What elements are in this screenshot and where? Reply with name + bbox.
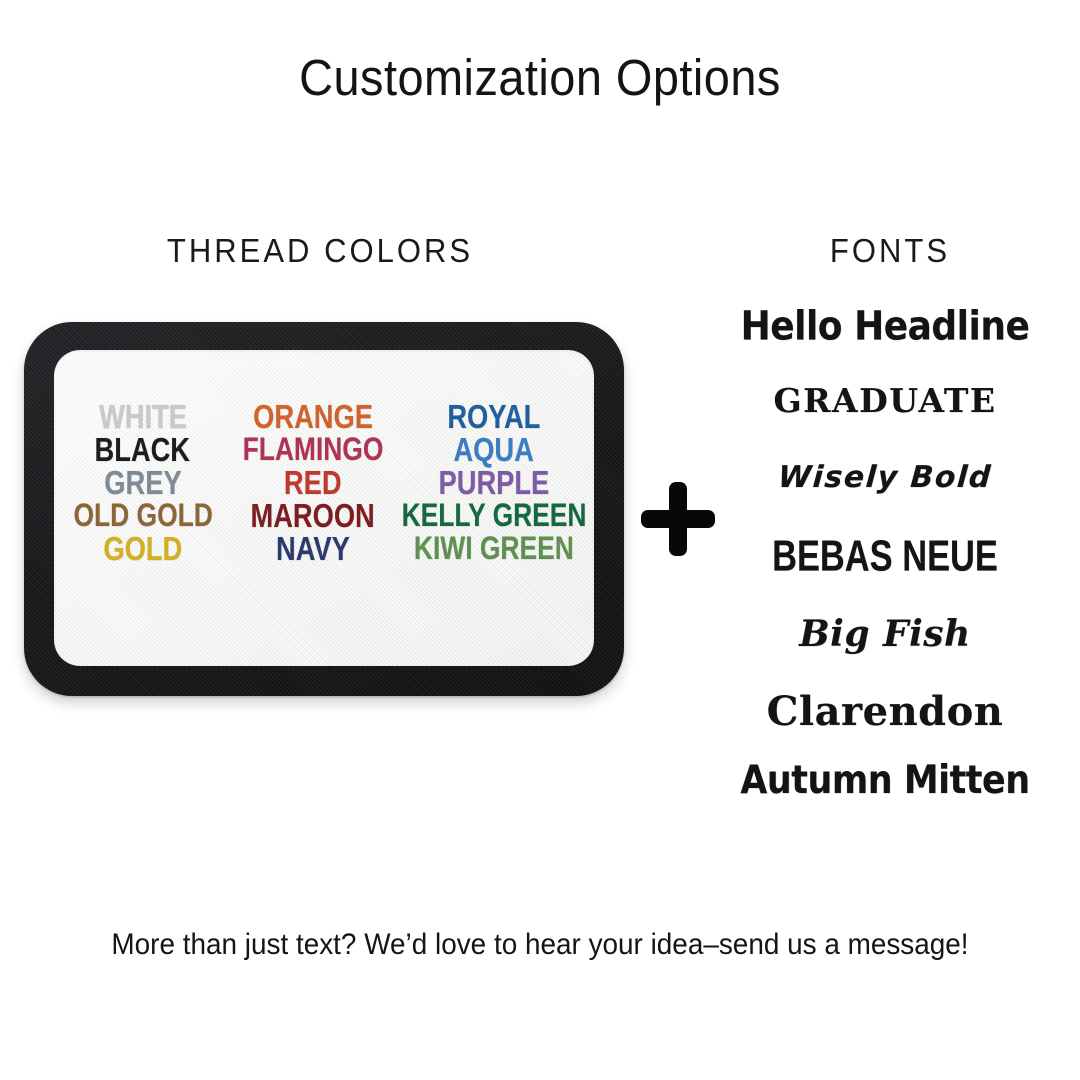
color-label-orange: ORANGE xyxy=(253,399,373,435)
color-label-gold: GOLD xyxy=(103,531,182,567)
color-label-royal: ROYAL xyxy=(448,399,541,435)
color-label-kiwi-green: KIWI GREEN xyxy=(414,531,574,567)
page-title: Customization Options xyxy=(43,48,1037,107)
color-column-3: ROYAL AQUA PURPLE KELLY GREEN KIWI GREEN xyxy=(394,400,594,565)
font-sample-wisely-bold: Wisely Bold xyxy=(699,460,1071,495)
font-sample-bebas-neue: BEBAS NEUE xyxy=(733,531,1036,581)
color-label-grey: GREY xyxy=(104,465,181,501)
color-column-2: ORANGE FLAMINGO RED MAROON NAVY xyxy=(231,400,394,565)
font-sample-big-fish: Big Fish xyxy=(700,613,1070,655)
font-sample-hello-headline: Hello Headline xyxy=(700,304,1070,350)
plus-icon-vertical-bar xyxy=(669,482,687,556)
color-label-aqua: AQUA xyxy=(454,432,534,468)
color-label-navy: NAVY xyxy=(276,531,350,567)
thread-colors-patch: WHITE BLACK GREY OLD GOLD GOLD ORANGE FL… xyxy=(24,322,624,696)
patch-face: WHITE BLACK GREY OLD GOLD GOLD ORANGE FL… xyxy=(54,350,594,666)
color-label-red: RED xyxy=(284,465,342,501)
section-heading-thread-colors: THREAD COLORS xyxy=(76,232,565,270)
font-samples-list: Hello Headline GRADUATE Wisely Bold BEBA… xyxy=(700,300,1070,810)
color-label-flamingo: FLAMINGO xyxy=(242,432,383,468)
font-sample-autumn-mitten: Autumn Mitten xyxy=(706,758,1065,803)
color-label-purple: PURPLE xyxy=(439,465,550,501)
color-label-white: WHITE xyxy=(99,399,187,435)
font-sample-graduate: GRADUATE xyxy=(700,381,1070,420)
section-heading-fonts: FONTS xyxy=(768,232,1012,270)
color-label-kelly-green: KELLY GREEN xyxy=(402,498,587,534)
color-label-maroon: MAROON xyxy=(251,498,375,534)
color-column-1: WHITE BLACK GREY OLD GOLD GOLD xyxy=(54,400,231,565)
color-label-old-gold: OLD GOLD xyxy=(73,498,212,534)
color-swatch-columns: WHITE BLACK GREY OLD GOLD GOLD ORANGE FL… xyxy=(54,400,594,565)
color-label-black: BLACK xyxy=(95,432,190,468)
patch-border: WHITE BLACK GREY OLD GOLD GOLD ORANGE FL… xyxy=(24,322,624,696)
font-sample-clarendon: Clarendon xyxy=(700,688,1070,735)
footer-note: More than just text? We’d love to hear y… xyxy=(38,928,1042,962)
